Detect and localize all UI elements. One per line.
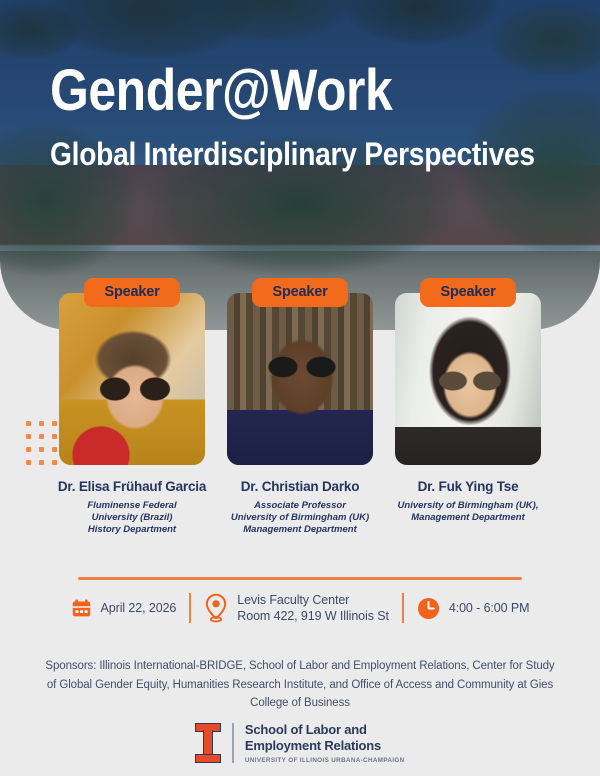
section-divider [78,577,522,580]
event-time-text: 4:00 - 6:00 PM [449,600,530,616]
institution-logo: School of Labor and Employment Relations… [0,722,600,764]
speaker-affiliation: Associate Professor University of Birmin… [200,500,400,536]
logo-line-1: School of Labor and [245,722,405,738]
speakers-row: Speaker Dr. Elisa Frühauf Garcia Flumine… [0,278,600,536]
poster-subtitle: Global Interdisciplinary Perspectives [50,138,499,172]
logo-divider [232,723,234,763]
speaker-affiliation: Fluminense Federal University (Brazil) H… [52,500,212,536]
speaker-name: Dr. Christian Darko [241,479,360,494]
event-date-text: April 22, 2026 [101,600,177,616]
speaker-badge: Speaker [420,278,515,307]
speaker-badge: Speaker [252,278,347,307]
calendar-icon [71,598,92,619]
speaker-photo [395,293,541,465]
poster-title: Gender@Work [50,62,489,120]
speaker-card: Speaker Dr. Christian Darko Associate Pr… [227,278,373,536]
speaker-name: Dr. Elisa Frühauf Garcia [58,479,206,494]
sponsors-text: Sponsors: Illinois International-BRIDGE,… [42,657,558,713]
speaker-name: Dr. Fuk Ying Tse [418,479,519,494]
event-time-item: 4:00 - 6:00 PM [404,597,543,620]
clock-icon [417,597,440,620]
speaker-card: Speaker Dr. Elisa Frühauf Garcia Flumine… [59,278,205,536]
event-location-text: Levis Faculty Center Room 422, 919 W Ill… [237,592,389,624]
speaker-photo [59,293,205,465]
speaker-photo [227,293,373,465]
block-i-icon [195,723,221,763]
event-date-item: April 22, 2026 [58,598,190,619]
map-pin-icon [204,593,228,623]
logo-text-block: School of Labor and Employment Relations… [245,722,405,764]
hero-text-block: Gender@Work Global Interdisciplinary Per… [50,62,560,172]
logo-line-2: Employment Relations [245,738,405,754]
event-poster: Gender@Work Global Interdisciplinary Per… [0,0,600,776]
logo-line-3: UNIVERSITY OF ILLINOIS URBANA-CHAMPAIGN [245,757,405,764]
speaker-affiliation: University of Birmingham (UK), Managemen… [378,500,558,524]
speaker-card: Speaker Dr. Fuk Ying Tse University of B… [395,278,541,536]
event-location-item: Levis Faculty Center Room 422, 919 W Ill… [191,592,402,624]
event-details-bar: April 22, 2026 Levis Faculty Center Room… [0,592,600,624]
speaker-badge: Speaker [84,278,179,307]
